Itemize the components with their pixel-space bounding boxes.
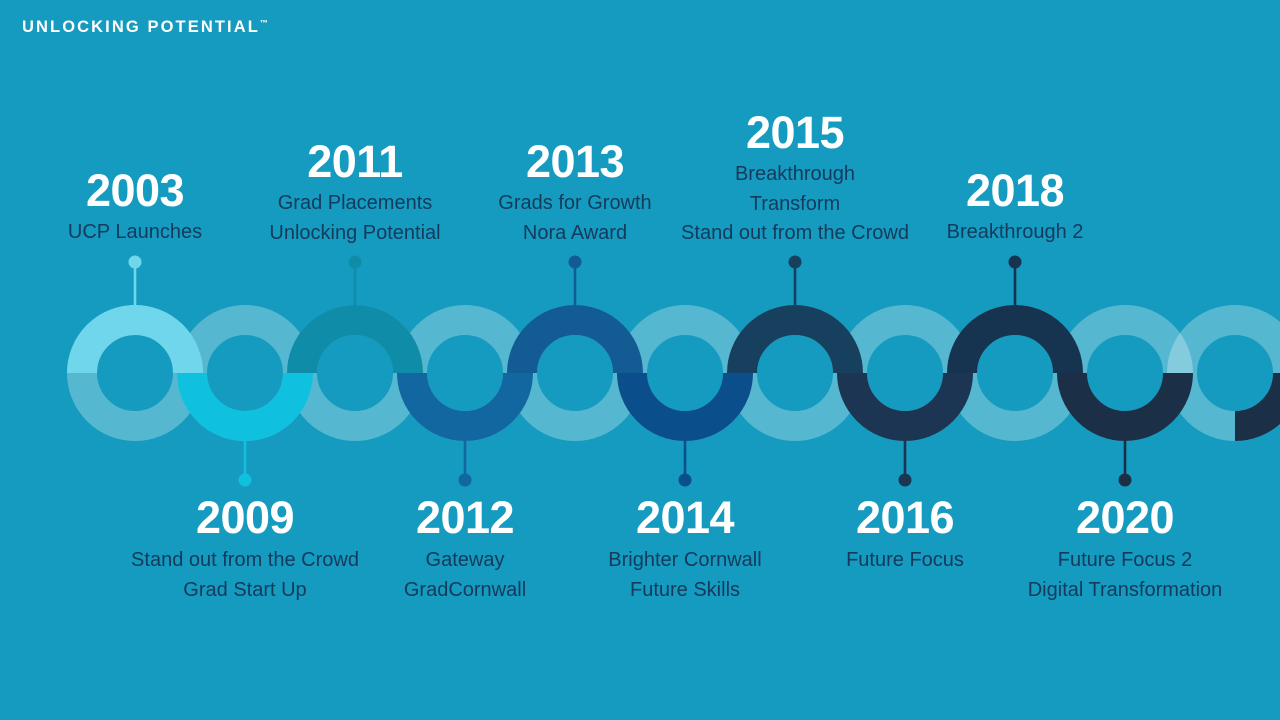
event-description: Brighter CornwallFuture Skills bbox=[608, 546, 761, 605]
connector-dot-2018 bbox=[1009, 256, 1022, 269]
event-description-line: Transform bbox=[681, 190, 909, 219]
trademark-icon: ™ bbox=[260, 19, 268, 28]
wave-arc-2012 bbox=[412, 373, 518, 426]
timeline-event-2013[interactable]: 2013Grads for GrowthNora Award bbox=[498, 138, 651, 248]
event-year: 2014 bbox=[608, 494, 761, 541]
event-description-line: Stand out from the Crowd bbox=[681, 219, 909, 248]
timeline-event-2014[interactable]: 2014Brighter CornwallFuture Skills bbox=[608, 494, 761, 605]
event-description: Grad PlacementsUnlocking Potential bbox=[269, 189, 440, 248]
wave-arc-2009 bbox=[192, 373, 298, 426]
event-description-line: Nora Award bbox=[498, 219, 651, 248]
connector-dot-2003 bbox=[129, 256, 142, 269]
event-description-line: Future Focus bbox=[846, 546, 964, 575]
wave-arc-2011 bbox=[302, 320, 408, 373]
event-year: 2012 bbox=[404, 494, 526, 541]
event-year: 2013 bbox=[498, 138, 651, 185]
timeline-event-2011[interactable]: 2011Grad PlacementsUnlocking Potential bbox=[269, 138, 440, 248]
wave-arc-2013 bbox=[522, 320, 628, 373]
connector-dot-2013 bbox=[569, 256, 582, 269]
connector-dot-2009 bbox=[239, 474, 252, 487]
event-year: 2018 bbox=[947, 167, 1084, 214]
event-description-line: Brighter Cornwall bbox=[608, 546, 761, 575]
wave-arc-2003 bbox=[82, 320, 188, 373]
event-description-line: Gateway bbox=[404, 546, 526, 575]
event-description: Future Focus bbox=[846, 546, 964, 575]
event-description-line: Grads for Growth bbox=[498, 189, 651, 218]
timeline-event-2018[interactable]: 2018Breakthrough 2 bbox=[947, 167, 1084, 248]
event-description: Breakthrough 2 bbox=[947, 218, 1084, 247]
wave-arc-2018 bbox=[962, 320, 1068, 373]
logo-text: UNLOCKING POTENTIAL bbox=[22, 18, 260, 36]
timeline-event-2020[interactable]: 2020Future Focus 2Digital Transformation bbox=[1028, 494, 1223, 605]
event-description-line: Grad Placements bbox=[269, 189, 440, 218]
event-description: BreakthroughTransformStand out from the … bbox=[681, 160, 909, 248]
event-description: Stand out from the CrowdGrad Start Up bbox=[131, 546, 359, 605]
event-description-line: Unlocking Potential bbox=[269, 219, 440, 248]
event-year: 2003 bbox=[68, 167, 202, 214]
event-description-line: Future Focus 2 bbox=[1028, 546, 1223, 575]
event-description-line: GradCornwall bbox=[404, 576, 526, 605]
wave-arc-tail bbox=[1235, 373, 1280, 426]
event-description-line: Grad Start Up bbox=[131, 576, 359, 605]
event-description-line: Breakthrough 2 bbox=[947, 218, 1084, 247]
event-year: 2011 bbox=[269, 138, 440, 185]
timeline-event-2015[interactable]: 2015BreakthroughTransformStand out from … bbox=[681, 109, 909, 248]
event-year: 2020 bbox=[1028, 494, 1223, 541]
timeline-event-2003[interactable]: 2003UCP Launches bbox=[68, 167, 202, 248]
event-description-line: UCP Launches bbox=[68, 218, 202, 247]
event-year: 2015 bbox=[681, 109, 909, 156]
event-description-line: Breakthrough bbox=[681, 160, 909, 189]
event-description-line: Digital Transformation bbox=[1028, 576, 1223, 605]
event-year: 2009 bbox=[131, 494, 359, 541]
event-description: Grads for GrowthNora Award bbox=[498, 189, 651, 248]
connector-dot-2011 bbox=[349, 256, 362, 269]
connector-dot-2014 bbox=[679, 474, 692, 487]
event-description: GatewayGradCornwall bbox=[404, 546, 526, 605]
connector-dot-2012 bbox=[459, 474, 472, 487]
wave-arc-2015 bbox=[742, 320, 848, 373]
event-year: 2016 bbox=[846, 494, 964, 541]
event-description-line: Future Skills bbox=[608, 576, 761, 605]
timeline-event-2012[interactable]: 2012GatewayGradCornwall bbox=[404, 494, 526, 605]
event-description-line: Stand out from the Crowd bbox=[131, 546, 359, 575]
wave-arc-2020 bbox=[1072, 373, 1178, 426]
event-description: UCP Launches bbox=[68, 218, 202, 247]
wave-arc-2014 bbox=[632, 373, 738, 426]
timeline-event-2016[interactable]: 2016Future Focus bbox=[846, 494, 964, 576]
wave-arc-2016 bbox=[852, 373, 958, 426]
timeline-event-2009[interactable]: 2009Stand out from the CrowdGrad Start U… bbox=[131, 494, 359, 605]
connector-dot-2015 bbox=[789, 256, 802, 269]
slide-canvas: UNLOCKING POTENTIAL™ 2003UCP Launches200… bbox=[0, 0, 1280, 720]
timeline-ribbon bbox=[0, 0, 1280, 720]
connector-dot-2020 bbox=[1119, 474, 1132, 487]
event-description: Future Focus 2Digital Transformation bbox=[1028, 546, 1223, 605]
connector-dot-2016 bbox=[899, 474, 912, 487]
brand-logo: UNLOCKING POTENTIAL™ bbox=[22, 18, 268, 37]
